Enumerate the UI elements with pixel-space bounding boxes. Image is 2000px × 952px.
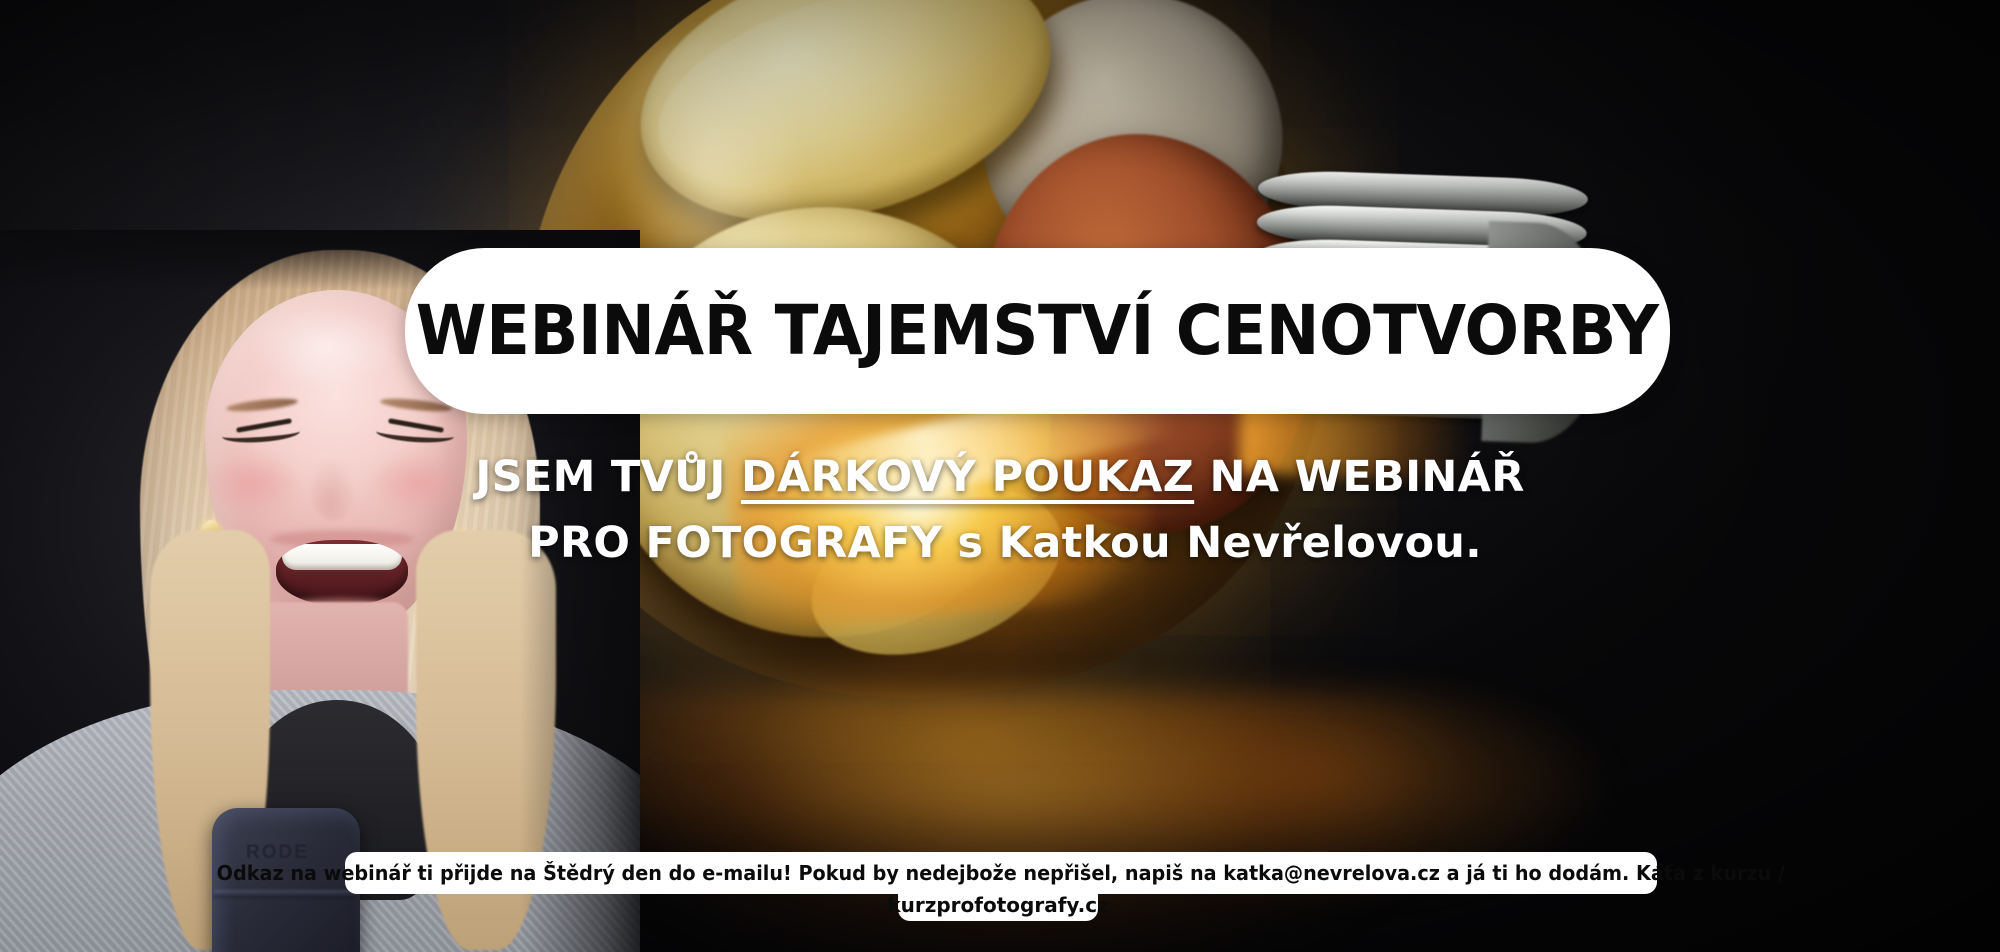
subtitle-block: JSEM TVŮJ DÁRKOVÝ POUKAZ NA WEBINÁŘ PRO … (0, 448, 2000, 572)
subtitle-line-2: PRO FOTOGRAFY s Katkou Nevřelovou. (0, 514, 2000, 572)
page-title: WEBINÁŘ TAJEMSTVÍ CENOTVORBY (416, 291, 1659, 371)
subtitle-line1-prefix: JSEM TVŮJ (475, 452, 741, 502)
subtitle-line-1: JSEM TVŮJ DÁRKOVÝ POUKAZ NA WEBINÁŘ (0, 448, 2000, 506)
footer-note-line-2: kurzprofotografy.cz (898, 889, 1098, 921)
presenter-forehead-highlight (250, 310, 400, 390)
footer-note-text-1: Odkaz na webinář ti přijde na Štědrý den… (217, 861, 1785, 885)
subtitle-line1-suffix: WEBINÁŘ (1295, 452, 1525, 502)
footer-website-link[interactable]: kurzprofotografy.cz (887, 893, 1108, 917)
microphone-seam (214, 890, 358, 898)
promo-slide: RODE WEBINÁŘ TAJEMSTVÍ CENOTVORBY JSEM T… (0, 0, 2000, 952)
subtitle-line2-suffix: s Katkou Nevřelovou. (957, 518, 1481, 568)
gift-voucher-highlight: DÁRKOVÝ POUKAZ (741, 452, 1194, 502)
subtitle-line2-prefix: PRO FOTOGRAFY (528, 518, 957, 568)
title-banner: WEBINÁŘ TAJEMSTVÍ CENOTVORBY (405, 248, 1670, 414)
subtitle-line1-mid: NA (1194, 452, 1294, 502)
footer-note-line-1: Odkaz na webinář ti přijde na Štědrý den… (345, 852, 1657, 894)
